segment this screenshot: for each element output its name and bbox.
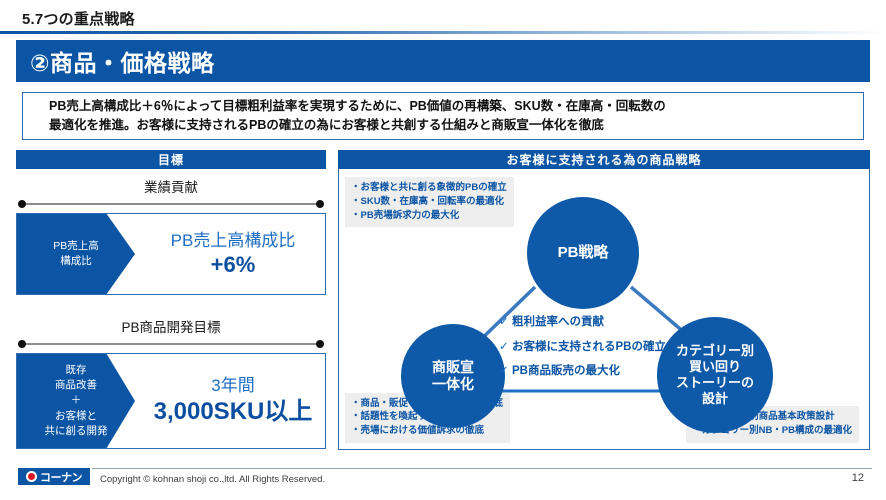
copyright-text: Copyright © kohnan shoji co.,ltd. All Ri… (100, 474, 325, 485)
title-divider (0, 31, 886, 34)
strategy-diagram: ・お客様と共に創る象徴的PBの確立 ・SKU数・在庫高・回転率の最適化 ・PB売… (338, 169, 870, 450)
goal-value-number: +6% (211, 251, 256, 279)
page-title: 5.7つの重点戦略 (22, 8, 135, 29)
section-heading: ②商品・価格戦略 (16, 44, 214, 78)
check-label: PB商品販売の最大化 (512, 365, 620, 377)
strategy-column-header: お客様に支持される為の商品戦略 (338, 150, 870, 169)
goal-value: PB売上高構成比 +6% (135, 214, 325, 294)
goal-tag-label: PB売上高 構成比 (17, 214, 135, 294)
lead-statement-box: PB売上高構成比＋6％によって目標粗利益率を実現するために、PB価値の再構築、S… (22, 92, 864, 140)
lead-line-1: PB売上高構成比＋6％によって目標粗利益率を実現するために、PB価値の再構築、S… (49, 97, 863, 116)
divider-bar (22, 343, 320, 345)
note-line: ・PB売場訴求力の最大化 (351, 209, 507, 223)
goal-value-caption: 3年間 (211, 375, 254, 396)
check-icon: ✓ (499, 317, 512, 329)
logo-text: コーナン (40, 469, 82, 485)
page-number: 12 (852, 472, 864, 484)
note-line: ・お客様と共に創る象徴的PBの確立 (351, 181, 507, 195)
check-item: ✓PB商品販売の最大化 (499, 366, 699, 378)
goal-caption: PB商品開発目標 (16, 309, 326, 340)
circle-label-line: 設計 (702, 391, 728, 407)
goal-row: 既存 商品改善 ＋ お客様と 共に創る開発 3年間 3,000SKU以上 (16, 353, 326, 449)
circle-label-line: PB戦略 (558, 244, 609, 262)
goal-caption: 業績貢献 (16, 169, 326, 200)
circle-pb-strategy: PB戦略 (527, 197, 639, 309)
note-box-top-left: ・お客様と共に創る象徴的PBの確立 ・SKU数・在庫高・回転率の最適化 ・PB売… (345, 177, 514, 227)
divider-dot-right (316, 200, 324, 208)
goal-value: 3年間 3,000SKU以上 (135, 354, 325, 448)
check-item: ✓お客様に支持されるPBの確立 (499, 342, 699, 354)
section-header-band: ②商品・価格戦略 (16, 40, 870, 82)
check-label: 粗利益率への貢献 (512, 316, 604, 328)
goals-column-header: 目標 (16, 150, 326, 169)
kohnan-mark-icon (26, 471, 37, 482)
divider-bar (22, 203, 320, 205)
goal-value-caption: PB売上高構成比 (171, 230, 296, 251)
outcome-check-list: ✓粗利益率への貢献 ✓お客様に支持されるPBの確立 ✓PB商品販売の最大化 (499, 317, 699, 391)
goal-divider (18, 340, 324, 348)
goal-tag-label: 既存 商品改善 ＋ お客様と 共に創る開発 (17, 354, 135, 448)
check-icon: ✓ (499, 342, 512, 354)
goal-value-number: 3,000SKU以上 (154, 397, 313, 427)
note-line: ・SKU数・在庫高・回転率の最適化 (351, 195, 507, 209)
check-item: ✓粗利益率への貢献 (499, 317, 699, 329)
note-line: ・売場における価値訴求の徹底 (351, 424, 503, 438)
strategy-column: お客様に支持される為の商品戦略 ・お客様と共に創る象徴的PBの確立 ・SKU数・… (338, 150, 870, 450)
check-icon: ✓ (499, 366, 512, 378)
check-label: お客様に支持されるPBの確立 (512, 341, 666, 353)
goals-column: 目標 業績貢献 PB売上高 構成比 PB売上高構成比 +6% PB商品開発目標 (16, 150, 326, 450)
goal-divider (18, 200, 324, 208)
company-logo: コーナン (18, 468, 90, 485)
goal-row: PB売上高 構成比 PB売上高構成比 +6% (16, 213, 326, 295)
lead-line-2: 最適化を推進。お客様に支持されるPBの確立の為にお客様と共創する仕組みと商販宣一… (49, 116, 863, 135)
divider-dot-left (18, 340, 26, 348)
slide: 5.7つの重点戦略 ②商品・価格戦略 PB売上高構成比＋6％によって目標粗利益率… (0, 0, 886, 500)
goal-block-development: PB商品開発目標 既存 商品改善 ＋ お客様と 共に創る開発 3年間 3,000… (16, 309, 326, 449)
circle-label-line: 一体化 (432, 376, 474, 393)
footer-divider (92, 468, 872, 469)
goal-block-performance: 業績貢献 PB売上高 構成比 PB売上高構成比 +6% (16, 169, 326, 295)
divider-dot-left (18, 200, 26, 208)
circle-integration: 商販宣 一体化 (401, 324, 505, 428)
divider-dot-right (316, 340, 324, 348)
circle-label-line: 商販宣 (432, 359, 474, 376)
